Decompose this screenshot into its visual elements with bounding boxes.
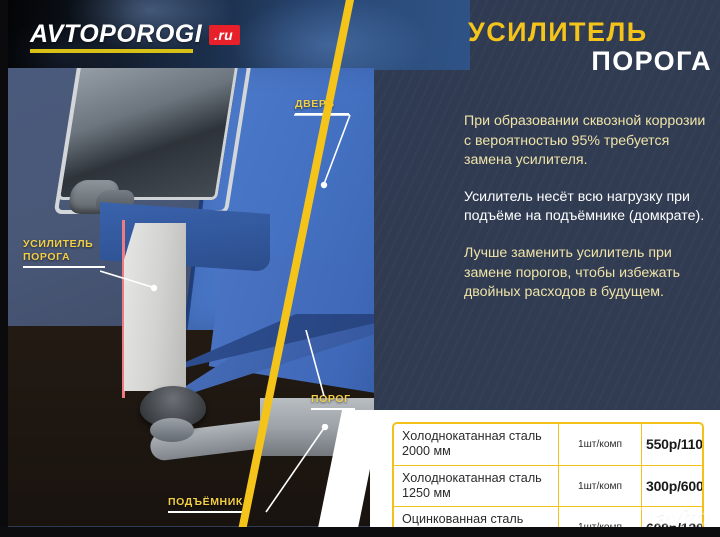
cell-quantity: 1шт/комп: [559, 424, 642, 465]
cell-price: 550р/1100р: [642, 424, 704, 465]
left-frame-edge: [0, 0, 8, 537]
label-reinforcement-underline: [23, 266, 105, 268]
label-lift-underline: [168, 511, 242, 513]
headline: УСИЛИТЕЛЬ ПОРОГА: [468, 18, 712, 76]
headline-line-2: ПОРОГА: [468, 47, 712, 76]
label-reinforcement-line1: УСИЛИТЕЛЬ: [23, 238, 105, 251]
headline-line-1: УСИЛИТЕЛЬ: [468, 18, 712, 47]
label-reinforcement: УСИЛИТЕЛЬ ПОРОГА: [23, 238, 105, 268]
bottom-frame-edge: [0, 527, 720, 537]
leader-line-reinforcement: [100, 265, 190, 305]
logo-tld-badge: .ru: [209, 25, 240, 45]
cell-material: Холоднокатанная сталь 2000 мм: [394, 424, 559, 465]
brand-logo[interactable]: AVTOPOROGI .ru: [30, 22, 240, 53]
label-reinforcement-line2: ПОРОГА: [23, 251, 105, 264]
lift-pad-base-shape: [150, 418, 194, 442]
logo-wordmark: AVTOPOROGI: [30, 22, 202, 47]
paragraph-load: Усилитель несёт всю нагрузку при подъёме…: [464, 188, 714, 227]
body-copy: При образовании сквозной коррозии с веро…: [464, 112, 714, 320]
paragraph-corrosion: При образовании сквозной коррозии с веро…: [464, 112, 714, 171]
table-row[interactable]: Холоднокатанная сталь 2000 мм 1шт/комп 5…: [394, 424, 702, 466]
table-row[interactable]: Холоднокатанная сталь 1250 мм 1шт/комп 3…: [394, 466, 702, 508]
advertisement-card: AVTOPOROGI .ru ДВЕРЬ: [0, 0, 720, 537]
cell-material: Холоднокатанная сталь 1250 мм: [394, 466, 559, 507]
label-lift-text: ПОДЪЁМНИК: [168, 496, 243, 509]
cell-price: 300р/600р: [642, 466, 704, 507]
logo-underline: [30, 49, 193, 53]
paragraph-recommendation: Лучше заменить усилитель при замене поро…: [464, 244, 714, 303]
cell-quantity: 1шт/комп: [559, 466, 642, 507]
label-sill-underline: [311, 408, 355, 410]
label-door-text: ДВЕРЬ: [295, 98, 349, 111]
leader-line-door: [288, 112, 374, 202]
label-lift: ПОДЪЁМНИК: [168, 496, 243, 513]
logo-row: AVTOPOROGI .ru: [30, 22, 240, 47]
reinforcement-part-shape: [124, 223, 186, 391]
leader-line-sill: [294, 330, 334, 400]
